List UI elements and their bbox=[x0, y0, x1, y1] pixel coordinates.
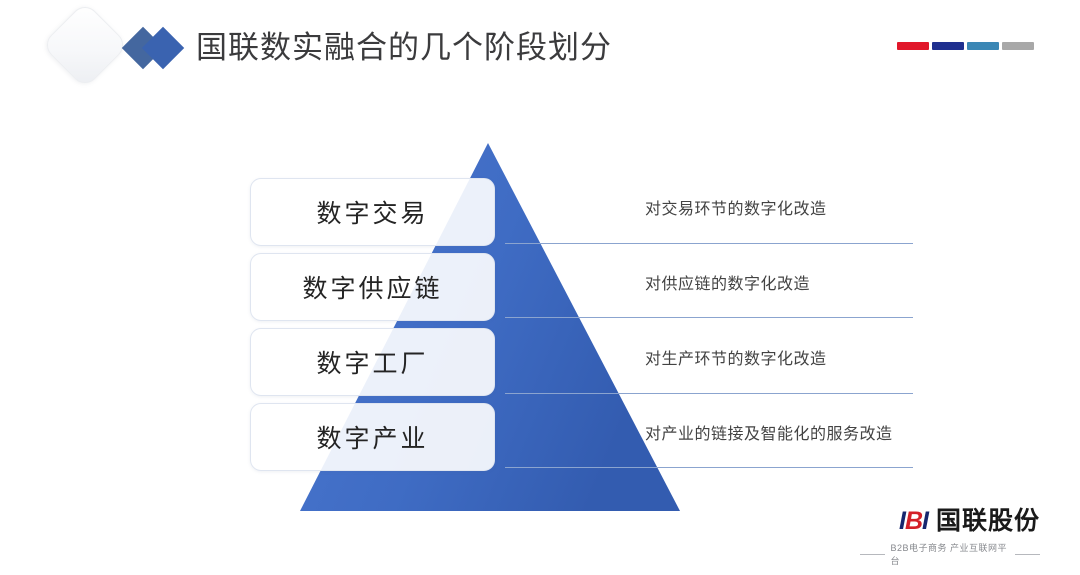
stage-label: 数字工厂 bbox=[316, 344, 428, 380]
stage-card[interactable]: 数字供应链 bbox=[250, 253, 495, 321]
stage-row: 数字交易对交易环节的数字化改造 bbox=[0, 178, 1080, 246]
stage-description: 对供应链的数字化改造 bbox=[645, 270, 810, 294]
stage-row: 数字产业对产业的链接及智能化的服务改造 bbox=[0, 403, 1080, 471]
stage-card[interactable]: 数字交易 bbox=[250, 178, 495, 246]
stage-separator-rule bbox=[505, 243, 913, 244]
stage-separator-rule bbox=[505, 317, 913, 318]
company-tagline: B2B电子商务 产业互联网平台 bbox=[891, 541, 1010, 567]
ibi-logo-icon: IBI bbox=[899, 509, 928, 534]
stage-row: 数字工厂对生产环节的数字化改造 bbox=[0, 328, 1080, 396]
logo-letter-i-right: I bbox=[922, 507, 928, 535]
tagline-dash-right bbox=[1015, 554, 1040, 555]
stage-label: 数字供应链 bbox=[302, 269, 442, 305]
company-tagline-row: B2B电子商务 产业互联网平台 bbox=[860, 541, 1040, 567]
stage-separator-rule bbox=[505, 393, 913, 394]
company-logo: IBI 国联股份 B2B电子商务 产业互联网平台 bbox=[860, 509, 1040, 565]
stage-separator-rule bbox=[505, 467, 913, 468]
stage-row: 数字供应链对供应链的数字化改造 bbox=[0, 253, 1080, 321]
stage-card[interactable]: 数字产业 bbox=[250, 403, 495, 471]
stage-description: 对生产环节的数字化改造 bbox=[645, 345, 827, 369]
stage-list: 数字交易对交易环节的数字化改造数字供应链对供应链的数字化改造数字工厂对生产环节的… bbox=[0, 0, 1080, 575]
stage-description: 对交易环节的数字化改造 bbox=[645, 195, 827, 219]
stage-description: 对产业的链接及智能化的服务改造 bbox=[645, 420, 893, 444]
logo-row: IBI 国联股份 bbox=[860, 509, 1040, 534]
tagline-dash-left bbox=[860, 554, 885, 555]
stage-label: 数字交易 bbox=[316, 194, 428, 230]
stage-label: 数字产业 bbox=[316, 419, 428, 455]
logo-letter-b: B bbox=[905, 507, 922, 535]
stage-card[interactable]: 数字工厂 bbox=[250, 328, 495, 396]
slide-canvas: 国联数实融合的几个阶段划分 数字交易对交易环节的数字化改造数字供应链对供应链的数… bbox=[0, 0, 1080, 575]
company-name: 国联股份 bbox=[936, 509, 1040, 534]
